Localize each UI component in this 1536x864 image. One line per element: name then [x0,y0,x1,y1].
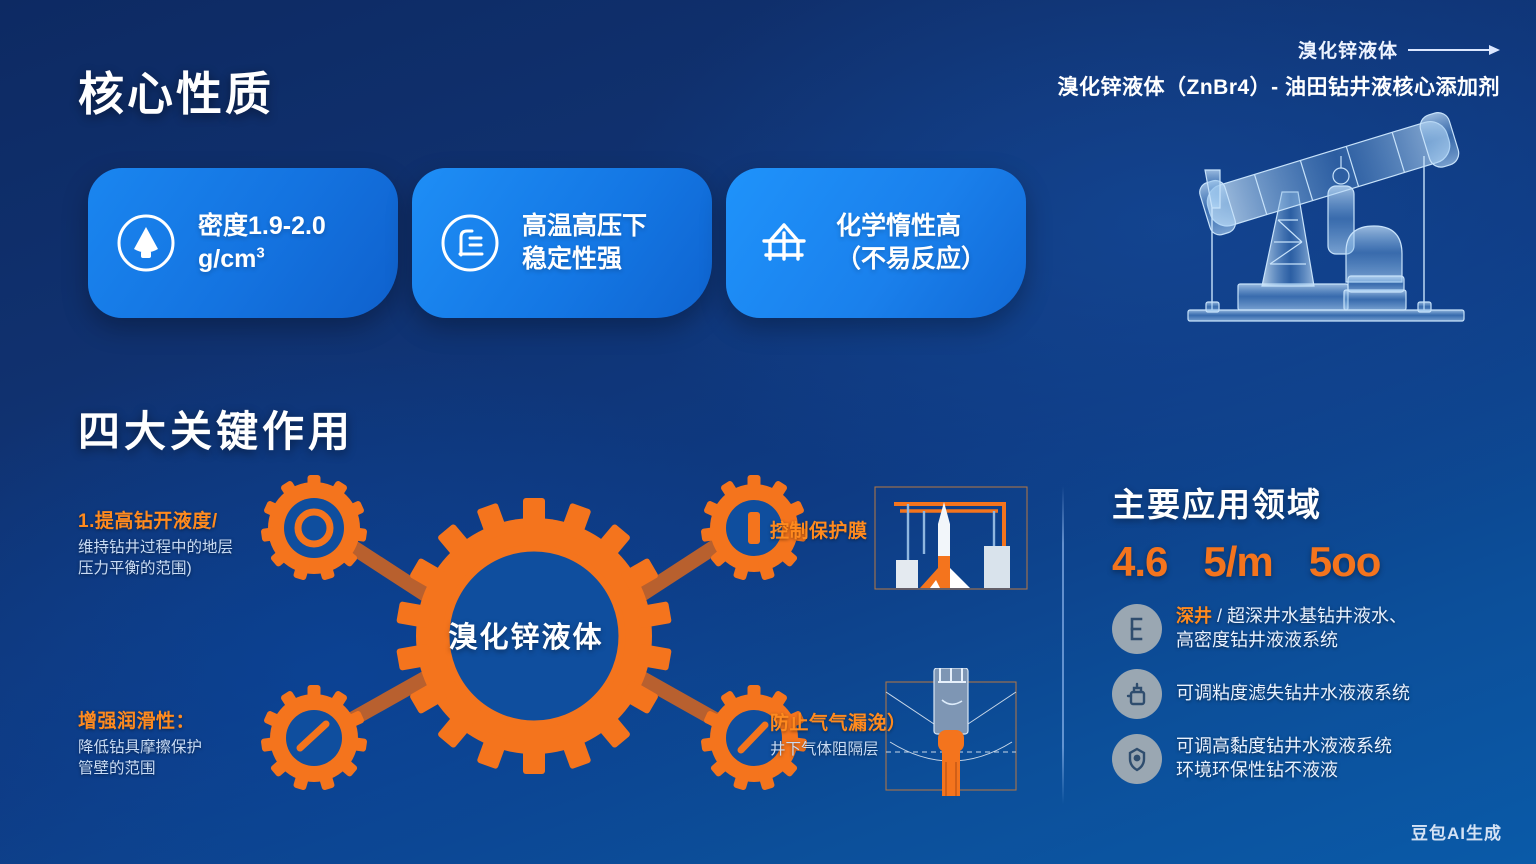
application-item-eco-safety[interactable]: 可调高黏度钻井水液液系统 环境环保性钻不液液 [1112,734,1502,784]
application-panel: 主要应用领域 4.6 5/m 5oo 深井 / 超深井水基钻井液水、 高密度钻井… [1112,478,1502,784]
application-panel-title: 主要应用领域 [1112,478,1502,526]
role-label-lubricity: 增强润滑性： 降低钻具摩擦保护 管壁的范围 [78,706,202,780]
app-item-0-body: / 超深井水基钻井液水、 [1212,606,1407,626]
role-1-sub: 降低钻具摩擦保护 管壁的范围 [78,738,202,780]
stat-0: 4.6 [1112,538,1167,586]
gear-center [396,498,672,774]
arrow-right-icon [1408,45,1500,55]
gear-satellite-top-left [261,475,368,581]
density-drop-icon [114,211,178,275]
card-inert-line1: 化学惰性高 [836,212,961,240]
application-item-list: 深井 / 超深井水基钻井液水、 高密度钻井液液系统 可调粘度滤失钻井水液液系统 [1112,604,1502,784]
downhole-packer-diagram [872,668,1030,796]
application-item-1-text: 可调粘度滤失钻井水液液系统 [1176,682,1410,706]
application-stats-row: 4.6 5/m 5oo [1112,538,1502,586]
application-item-2-text: 可调高黏度钻井水液液系统 环境环保性钻不液液 [1176,735,1392,783]
deep-well-icon [1112,604,1162,654]
role-0-title: 1.提高钻开液度/ [78,506,233,533]
role-1-sub1: 降低钻具摩擦保护 [78,739,202,756]
header-tagline: 溴化锌液体 [1298,36,1398,63]
app-item-0-highlight: 深井 [1176,606,1212,626]
application-item-viscosity[interactable]: 可调粘度滤失钻井水液液系统 [1112,669,1502,719]
property-card-thermal-stability[interactable]: 高温高压下 稳定性强 [412,168,712,318]
gear-system-diagram [216,470,856,800]
header-block: 溴化锌液体 溴化锌液体（ZnBr4）- 油田钻井液核心添加剂 [1058,36,1501,101]
role-label-protective-film: 控制保护膜 [770,516,868,543]
header-tagline-row: 溴化锌液体 [1058,36,1501,63]
card-inert-line2: （不易反应） [836,245,986,273]
role-0-sub: 维持钻井过程中的地层 压力平衡的范围) [78,538,233,580]
role-3-sub1: 井下气体阻隔层 [770,741,879,758]
role-2-title: 控制保护膜 [770,516,868,543]
gear-satellite-bottom-left [261,685,368,791]
property-card-density-text: 密度1.9-2.0 g/cm3 [198,210,326,276]
watermark: 豆包AI生成 [1411,819,1502,844]
card-thermal-line1: 高温高压下 [522,212,647,240]
property-card-density[interactable]: 密度1.9-2.0 g/cm3 [88,168,398,318]
header-subtitle: 溴化锌液体（ZnBr4）- 油田钻井液核心添加剂 [1058,71,1501,101]
app-item-2-body: 可调高黏度钻井水液液系统 [1176,736,1392,756]
property-card-inert-text: 化学惰性高 （不易反应） [836,210,986,276]
application-item-deep-well[interactable]: 深井 / 超深井水基钻井液水、 高密度钻井液液系统 [1112,604,1502,654]
role-1-title: 增强润滑性： [78,706,202,733]
card-thermal-line2: 稳定性强 [522,245,622,273]
property-card-chemical-inert[interactable]: 化学惰性高 （不易反应） [726,168,1026,318]
property-card-list: 密度1.9-2.0 g/cm3 高温高压下 稳定性强 [88,168,1026,318]
role-0-sub1: 维持钻井过程中的地层 [78,539,233,556]
inert-molecule-icon [752,211,816,275]
viscosity-icon [1112,669,1162,719]
app-item-0-body2: 高密度钻井液液系统 [1176,630,1338,650]
page-title-core-properties: 核心性质 [78,58,274,124]
thermal-stability-icon [438,211,502,275]
page-title-key-roles: 四大关键作用 [78,398,354,459]
application-item-0-text: 深井 / 超深井水基钻井液水、 高密度钻井液液系统 [1176,605,1407,653]
role-label-density: 1.提高钻开液度/ 维持钻井过程中的地层 压力平衡的范围) [78,506,233,580]
role-0-sub2: 压力平衡的范围) [78,560,192,577]
vertical-divider [1062,486,1064,804]
card-density-line1: 密度1.9-2.0 [198,212,326,240]
wellhead-assembly-diagram [872,484,1030,592]
eco-safety-icon [1112,734,1162,784]
app-item-2-body2: 环境环保性钻不液液 [1176,760,1338,780]
stat-2: 5oo [1309,538,1381,586]
role-1-sub2: 管壁的范围 [78,760,156,777]
slide-canvas: 核心性质 四大关键作用 溴化锌液体 溴化锌液体（ZnBr4）- 油田钻井液核心添… [0,0,1536,864]
property-card-thermal-text: 高温高压下 稳定性强 [522,210,647,276]
oil-pumpjack-illustration [1178,104,1514,339]
card-density-sup: 3 [256,245,264,262]
stat-1: 5/m [1203,538,1272,586]
card-density-line2: g/cm [198,245,256,273]
